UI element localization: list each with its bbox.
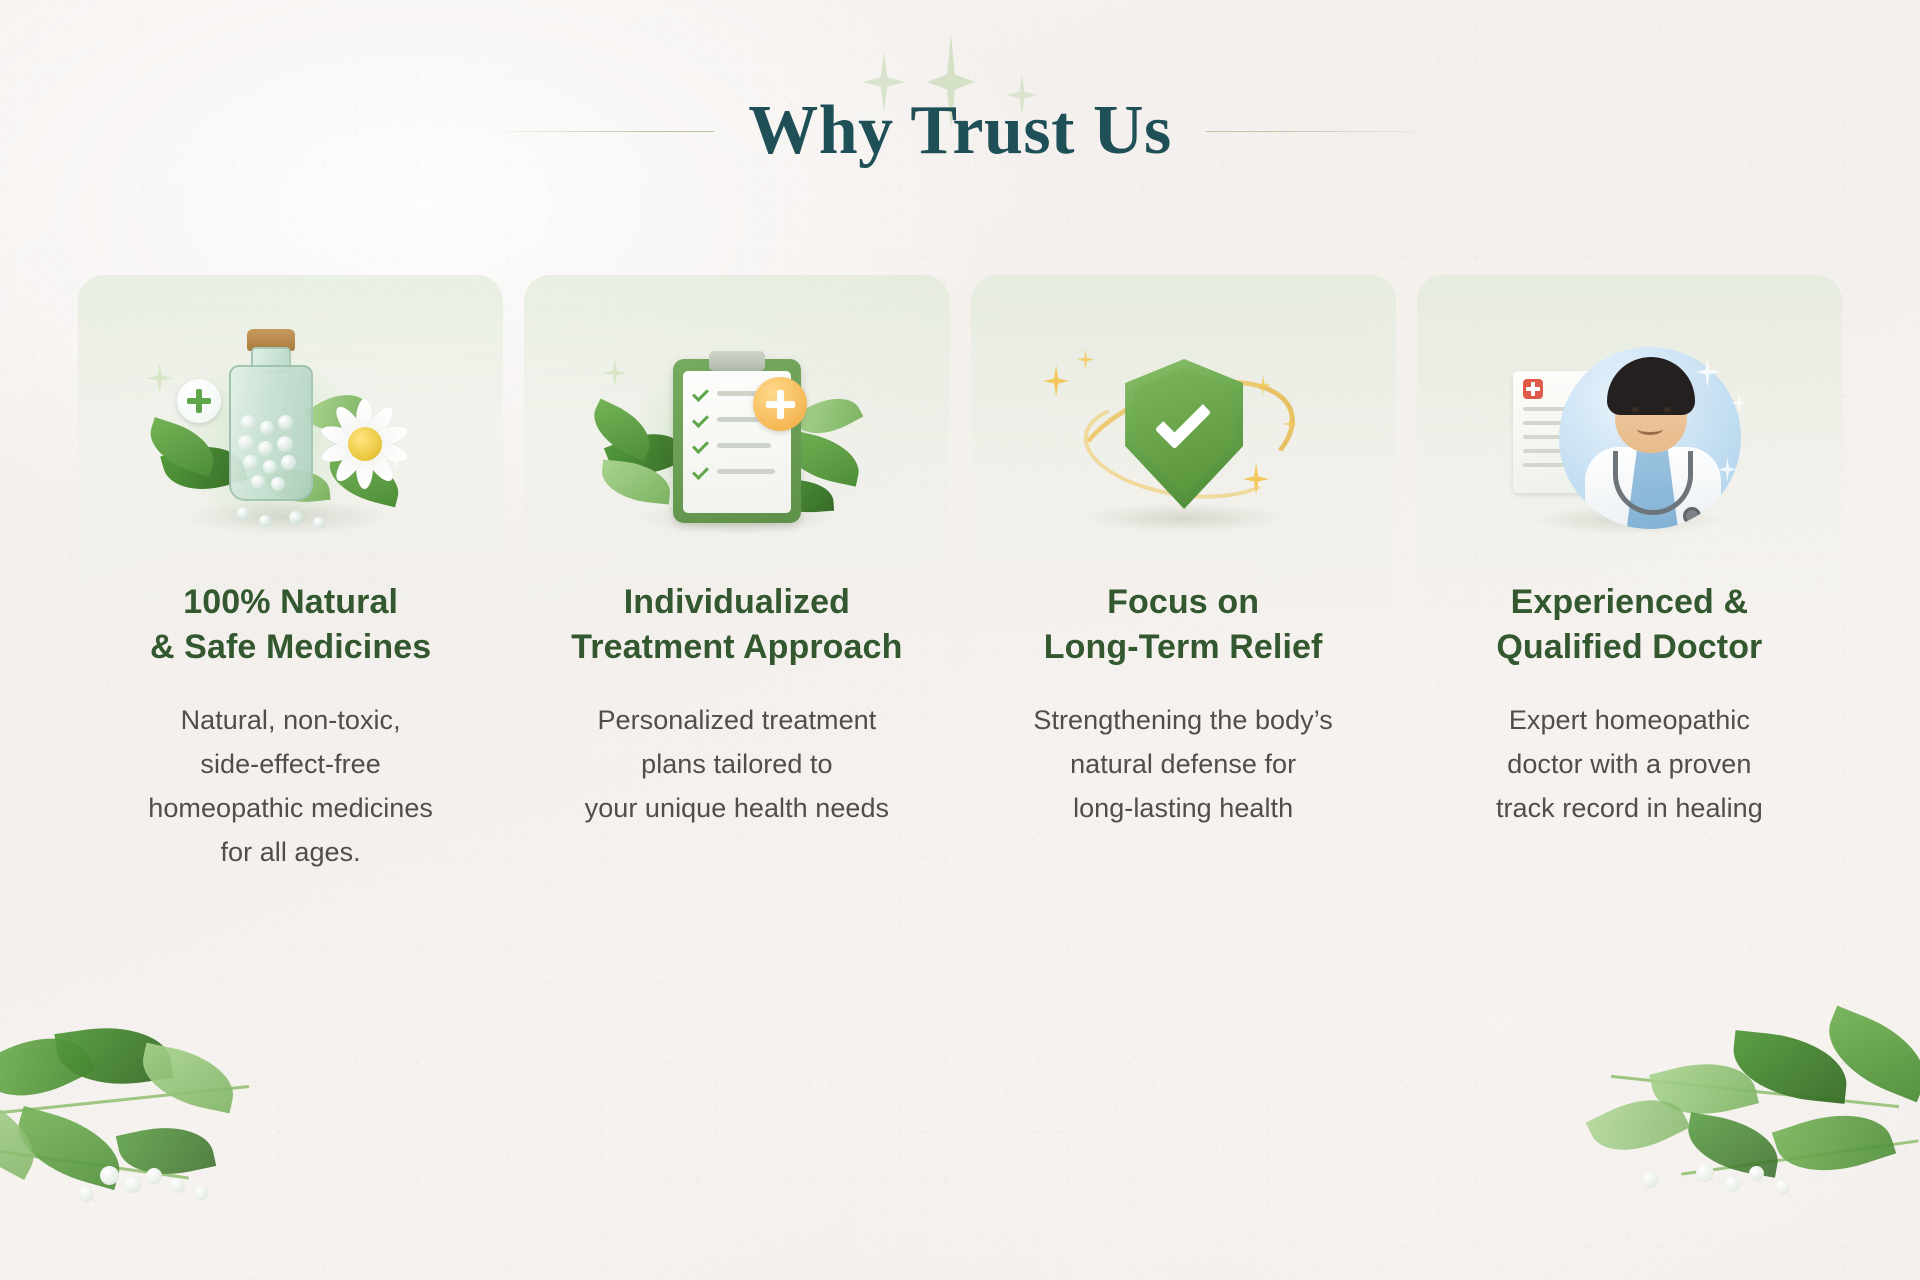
card-body: Natural, non-toxic, side-effect-free hom… — [102, 698, 479, 874]
pellet-icon — [271, 477, 285, 491]
card-title: Experienced & Qualified Doctor — [1441, 580, 1818, 670]
icon-shadow — [183, 499, 393, 535]
sparkle-icon — [1043, 365, 1069, 397]
title-rule-left — [484, 131, 714, 132]
clipboard-checklist-icon — [587, 341, 887, 556]
clipboard-clamp-icon — [709, 351, 765, 371]
trust-card[interactable]: Individualized Treatment Approach Person… — [524, 275, 949, 1075]
pellet-icon — [243, 455, 258, 470]
card-title: Individualized Treatment Approach — [548, 580, 925, 670]
pellet-icon — [259, 515, 271, 527]
daisy-center-icon — [348, 427, 382, 461]
card-body: Personalized treatment plans tailored to… — [548, 698, 925, 830]
page-title: Why Trust Us — [748, 96, 1172, 166]
pellet-icon — [289, 511, 302, 524]
pellet-icon — [258, 441, 273, 456]
pellet-icon — [313, 517, 325, 529]
hair-icon — [1607, 357, 1695, 415]
sparkle-icon — [147, 363, 173, 393]
text-line-icon — [717, 443, 771, 448]
card-title: 100% Natural & Safe Medicines — [102, 580, 479, 670]
card-icon-wrapper — [548, 331, 925, 566]
pellet-icon — [278, 415, 293, 430]
medical-cross-icon — [1523, 379, 1543, 399]
medicine-bottle-daisy-icon — [141, 341, 441, 556]
pellet-icon — [260, 421, 274, 435]
pellet-icon — [251, 475, 265, 489]
doctor-avatar-circle — [1559, 347, 1741, 529]
card-body: Strengthening the body’s natural defense… — [995, 698, 1372, 830]
medical-cross-icon — [177, 379, 221, 423]
card-icon-wrapper — [995, 331, 1372, 566]
trust-card[interactable]: Experienced & Qualified Doctor Expert ho… — [1417, 275, 1842, 1075]
section-header: Why Trust Us — [0, 0, 1920, 215]
trust-card[interactable]: Focus on Long-Term Relief Strengthening … — [971, 275, 1396, 1075]
text-line-icon — [717, 469, 775, 474]
pellet-icon — [238, 435, 254, 451]
title-row: Why Trust Us — [0, 96, 1920, 166]
pellet-icon — [241, 415, 256, 430]
shield-checkmark-icon — [1033, 341, 1333, 556]
trust-cards-container: 100% Natural & Safe Medicines Natural, n… — [78, 275, 1842, 1075]
sparkle-icon — [603, 359, 627, 387]
card-icon-wrapper — [1441, 331, 1818, 566]
title-rule-right — [1206, 131, 1436, 132]
pellet-icon — [277, 436, 293, 452]
card-icon-wrapper — [102, 331, 479, 566]
card-title: Focus on Long-Term Relief — [995, 580, 1372, 670]
pellet-icon — [281, 455, 296, 470]
card-body: Expert homeopathic doctor with a proven … — [1441, 698, 1818, 830]
pellet-icon — [263, 460, 277, 474]
doctor-portrait-icon — [1479, 341, 1779, 556]
medical-cross-icon — [753, 377, 807, 431]
pellet-icon — [237, 507, 250, 520]
trust-card[interactable]: 100% Natural & Safe Medicines Natural, n… — [78, 275, 503, 1075]
sparkle-icon — [1077, 349, 1094, 370]
